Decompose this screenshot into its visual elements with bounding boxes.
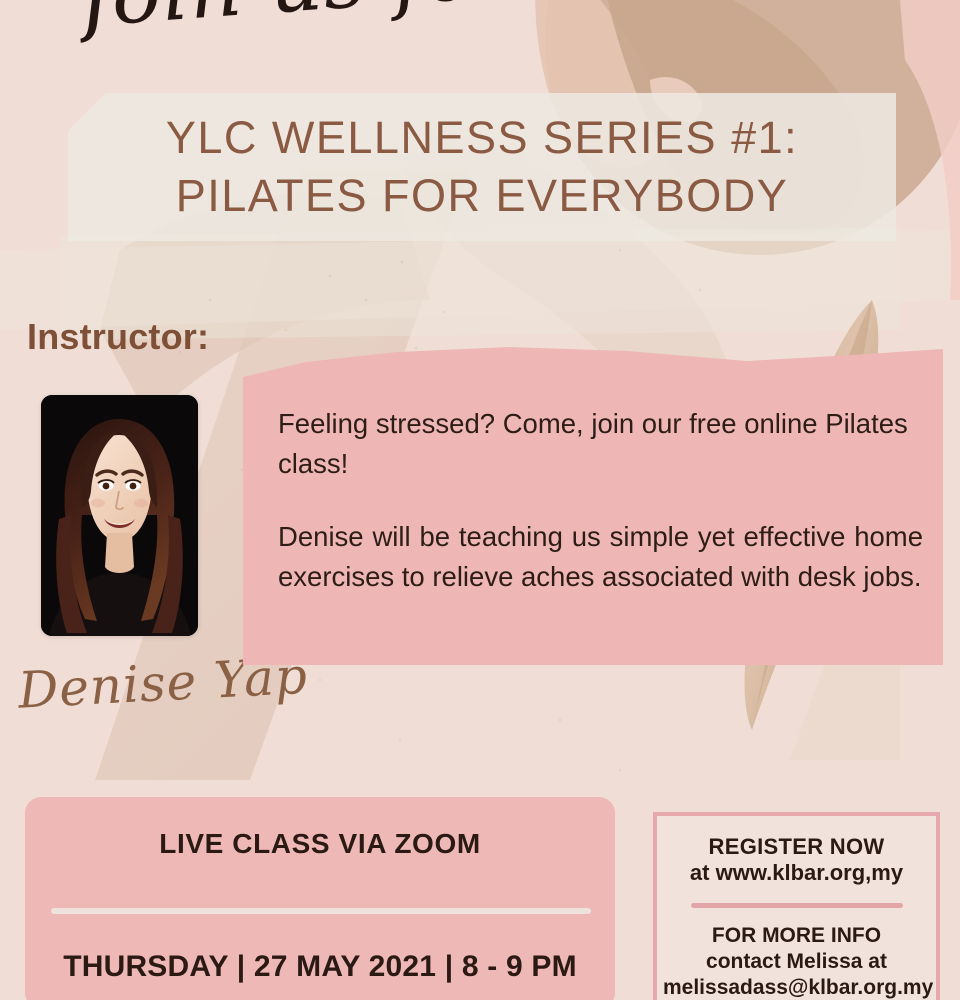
register-headline: REGISTER NOW: [663, 834, 930, 860]
register-content: REGISTER NOW at www.klbar.org,my FOR MOR…: [653, 812, 940, 1000]
description-text: Feeling stressed? Come, join our free on…: [278, 404, 923, 598]
page-title-line-2: PILATES FOR EVERYBODY: [176, 167, 789, 225]
pilates-event-poster: Join us for YLC WELLNESS SERIES #1: PILA…: [0, 0, 960, 1000]
instructor-photo: [41, 395, 198, 636]
register-website[interactable]: at www.klbar.org,my: [663, 860, 930, 886]
class-divider: [51, 908, 591, 914]
description-paragraph-2: Denise will be teaching us simple yet ef…: [278, 517, 923, 598]
contact-line-1: contact Melissa at: [663, 949, 930, 975]
page-title-line-1: YLC WELLNESS SERIES #1:: [166, 109, 798, 167]
headshot-illustration: [41, 395, 198, 636]
class-datetime: THURSDAY | 27 MAY 2021 | 8 - 9 PM: [25, 950, 615, 984]
more-info-headline: FOR MORE INFO: [663, 923, 930, 949]
register-divider: [691, 903, 903, 908]
description-paragraph-1: Feeling stressed? Come, join our free on…: [278, 404, 923, 485]
contact-email[interactable]: melissadass@klbar.org.my: [663, 975, 930, 1000]
instructor-label: Instructor:: [27, 316, 209, 358]
class-title: LIVE CLASS VIA ZOOM: [25, 828, 615, 860]
title-banner: YLC WELLNESS SERIES #1: PILATES FOR EVER…: [68, 93, 896, 241]
